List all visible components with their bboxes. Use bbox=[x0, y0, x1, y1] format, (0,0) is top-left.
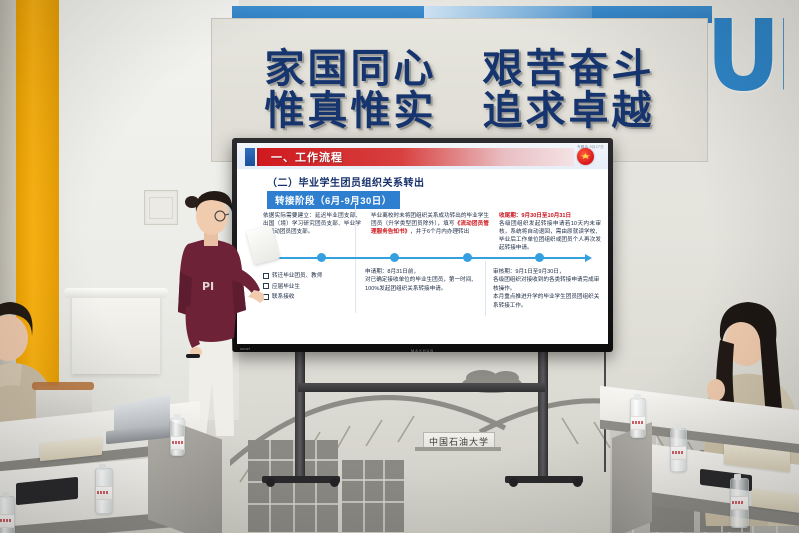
list-item: 联系接收 bbox=[263, 292, 355, 303]
slide-canvas: 专题会 9月27日 一、工作流程 （二）毕业学生团员组织关系转出 转接阶段（6月… bbox=[237, 143, 608, 344]
timeline-dot bbox=[535, 253, 544, 262]
tv-stand-left-post bbox=[295, 352, 305, 482]
chair-left-back bbox=[32, 382, 94, 390]
water-bottle bbox=[730, 478, 749, 528]
slide-right-body-1: 各级团组织对接收到的各类转接申请完成审核操作。 bbox=[493, 276, 603, 293]
list-item: 应届毕业生 bbox=[263, 282, 355, 293]
water-bottle bbox=[670, 428, 687, 472]
slide-right-heading: 审核期：9月1日至9月30日， bbox=[493, 268, 603, 276]
banner-line-1: 家国同心 艰苦奋斗 bbox=[265, 49, 655, 89]
tv-caster-right2 bbox=[573, 478, 582, 487]
bullet-label: 应届毕业生 bbox=[272, 282, 300, 293]
slide-mid-block: 申请期：8月31日前， 对已确定接收单位的毕业生团员，第一时间、100%发起团组… bbox=[365, 268, 487, 293]
water-bottle bbox=[630, 398, 646, 438]
timeline-arrow-icon bbox=[585, 254, 592, 262]
banner-phrase-3: 惟真惟实 bbox=[265, 91, 437, 131]
slide-bullet-list: 转迁毕业团员、教师 应届毕业生 联系接收 bbox=[263, 271, 355, 303]
presenter: PI bbox=[168, 186, 264, 436]
timeline-dot bbox=[390, 253, 399, 262]
slide-subtitle: （二）毕业学生团员组织关系转出 bbox=[267, 174, 425, 189]
slide-section-title: 一、工作流程 bbox=[259, 149, 343, 165]
table-right-side-panel bbox=[612, 422, 652, 533]
bullet-label: 转迁毕业团员、教师 bbox=[272, 271, 322, 282]
tv-caster-left2 bbox=[330, 478, 339, 487]
conference-room-photo: 中国石油大学 家国同心 艰苦奋斗 惟真惟实 追求卓越 UPC smart MAX… bbox=[0, 0, 799, 533]
svg-text:PI: PI bbox=[202, 280, 214, 293]
slide-col-2-text: 毕业离校时未将团组织关系成功转出的毕业学生团员（升学类型团员除外），填写《流动团… bbox=[371, 212, 489, 236]
upc-wall-logo: UPC bbox=[706, 18, 784, 164]
slide-section-title-bar: 一、工作流程 bbox=[259, 148, 574, 166]
slide-col-1-text: 依据实际需要建立：延迟毕业团支部、出国（境）学习研究团员支部、毕业学生流动团员团… bbox=[263, 212, 361, 236]
slide-right-body-2: 本月重点推进升学的毕业学生团员团组织关系转接工作。 bbox=[493, 293, 603, 310]
upc-logo-text: UPC bbox=[706, 18, 784, 93]
list-item: 转迁毕业团员、教师 bbox=[263, 271, 355, 282]
water-bottle bbox=[0, 496, 15, 533]
banner-line-2: 惟真惟实 追求卓越 bbox=[265, 91, 655, 131]
slide-timeline bbox=[255, 253, 595, 263]
water-bottle bbox=[95, 468, 113, 514]
banner-phrase-1: 家国同心 bbox=[265, 49, 437, 89]
sign-base bbox=[415, 447, 501, 451]
slide-col-3-body: 各级团组织发起转接申请若10天内未审核，系统将自动退回，需由原就读学校、毕业后工… bbox=[499, 220, 601, 252]
timeline-dot bbox=[463, 253, 472, 262]
tv-caster-right bbox=[509, 478, 518, 487]
tv-brand-badge: MAXHUB bbox=[411, 348, 434, 353]
slide-col-2-post: ，并于6个月内办理转出 bbox=[410, 229, 469, 235]
tv-stand-right-post bbox=[538, 352, 548, 482]
title-accent-blue bbox=[245, 148, 255, 166]
tv-caster-left bbox=[266, 478, 275, 487]
slide-stage-chip: 转接阶段（6月-9月30日） bbox=[267, 191, 400, 209]
timeline-dot bbox=[317, 253, 326, 262]
slide-right-block: 审核期：9月1日至9月30日， 各级团组织对接收到的各类转接申请完成审核操作。 … bbox=[493, 268, 603, 310]
slide-mid-heading: 申请期：8月31日前， bbox=[365, 268, 487, 276]
banner-phrase-4: 追求卓越 bbox=[483, 91, 655, 131]
youth-league-emblem-icon bbox=[577, 148, 594, 165]
slide-col-3-heading: 收尾期：9月30日至10月31日 bbox=[499, 212, 601, 220]
water-bottle bbox=[170, 418, 185, 456]
bullet-label: 联系接收 bbox=[272, 292, 294, 303]
slide-mid-body: 对已确定接收单位的毕业生团员，第一时间、100%发起团组织关系转接申请。 bbox=[365, 276, 487, 293]
banner-phrase-2: 艰苦奋斗 bbox=[483, 49, 655, 89]
tv-stand-crossbar bbox=[298, 383, 545, 392]
presentation-screen[interactable]: 专题会 9月27日 一、工作流程 （二）毕业学生团员组织关系转出 转接阶段（6月… bbox=[237, 143, 608, 344]
slide-col-3-text: 收尾期：9月30日至10月31日 各级团组织发起转接申请若10天内未审核，系统将… bbox=[499, 212, 601, 253]
